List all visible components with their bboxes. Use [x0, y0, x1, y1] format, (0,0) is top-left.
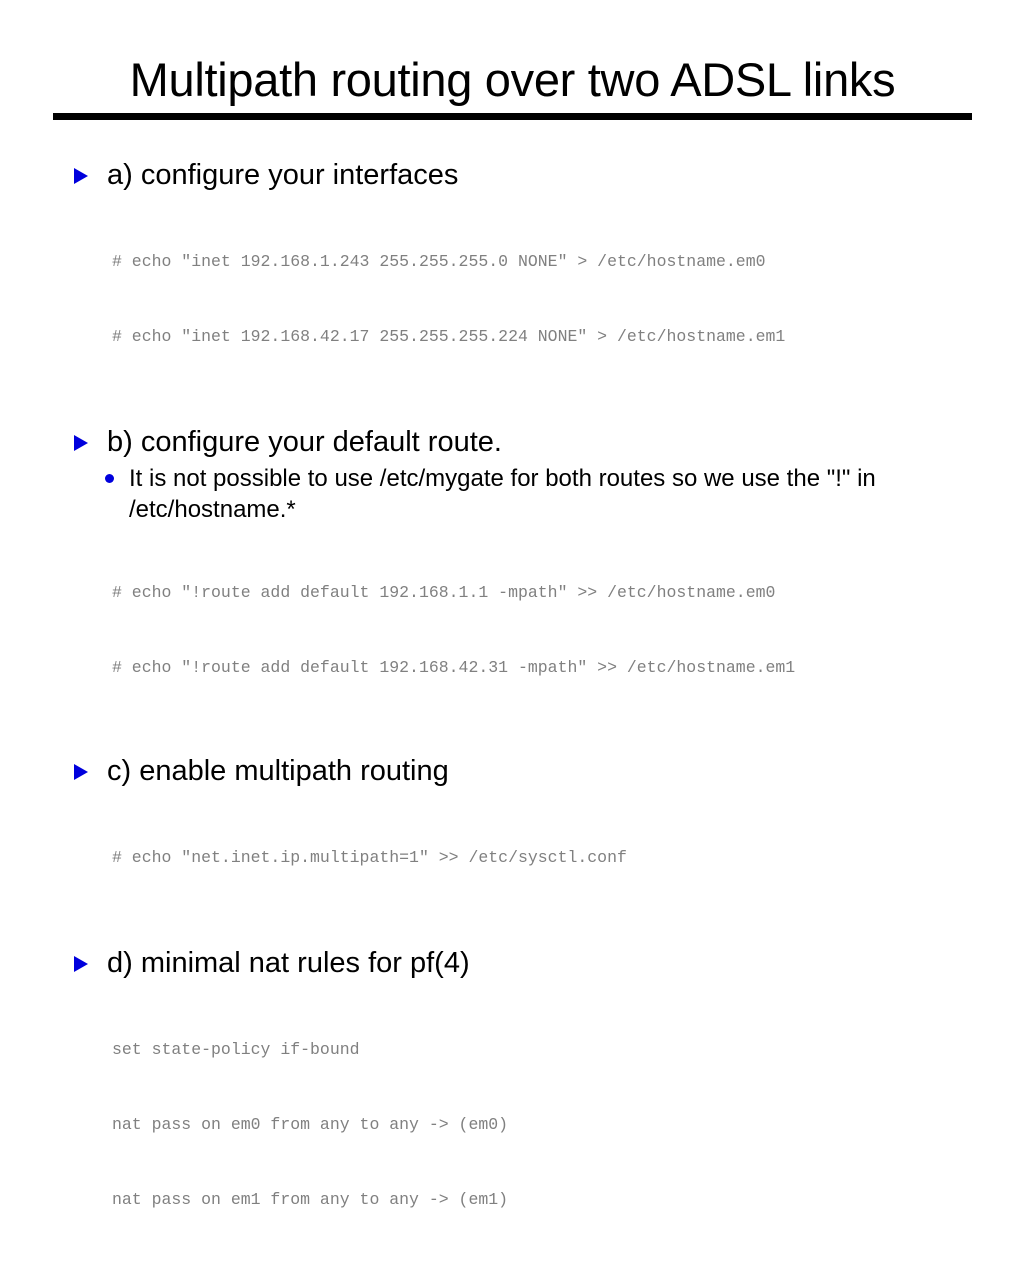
- section-spacer: [72, 920, 972, 944]
- triangle-right-icon: [74, 764, 88, 780]
- code-line: # echo "net.inet.ip.multipath=1" >> /etc…: [112, 845, 972, 870]
- triangle-right-icon: [74, 435, 88, 451]
- section-spacer: [72, 399, 972, 423]
- bullet-label-a: a) configure your interfaces: [107, 159, 458, 191]
- slide-title-block: Multipath routing over two ADSL links: [53, 52, 972, 120]
- dot-bullet-icon: [105, 474, 114, 483]
- code-block-d: set state-policy if-bound nat pass on em…: [72, 987, 972, 1262]
- bullet-item-b: b) configure your default route.: [72, 423, 972, 461]
- section-c: c) enable multipath routing # echo "net.…: [72, 752, 972, 920]
- bullet-label-c: c) enable multipath routing: [107, 755, 449, 787]
- section-b: b) configure your default route. It is n…: [72, 423, 972, 730]
- section-a: a) configure your interfaces # echo "ine…: [72, 156, 972, 399]
- code-line: nat pass on em1 from any to any -> (em1): [112, 1187, 972, 1212]
- code-block-c: # echo "net.inet.ip.multipath=1" >> /etc…: [72, 795, 972, 920]
- code-line: set state-policy if-bound: [112, 1037, 972, 1062]
- code-block-b: # echo "!route add default 192.168.1.1 -…: [72, 530, 972, 730]
- bullet-label-d: d) minimal nat rules for pf(4): [107, 947, 470, 979]
- bullet-item-d: d) minimal nat rules for pf(4): [72, 944, 972, 982]
- slide-canvas: Multipath routing over two ADSL links a)…: [0, 0, 1024, 768]
- code-line: # echo "inet 192.168.1.243 255.255.255.0…: [112, 249, 972, 274]
- code-line: # echo "!route add default 192.168.1.1 -…: [112, 580, 972, 605]
- code-line: nat pass on em0 from any to any -> (em0): [112, 1112, 972, 1137]
- section-d: d) minimal nat rules for pf(4) set state…: [72, 944, 972, 1262]
- page-title: Multipath routing over two ADSL links: [53, 52, 972, 108]
- code-block-a: # echo "inet 192.168.1.243 255.255.255.0…: [72, 199, 972, 399]
- triangle-right-icon: [74, 168, 88, 184]
- sub-bullet-item-b1: It is not possible to use /etc/mygate fo…: [72, 463, 972, 525]
- sub-bullet-label: It is not possible to use /etc/mygate fo…: [129, 465, 876, 523]
- bullet-item-a: a) configure your interfaces: [72, 156, 972, 194]
- title-underline-rule: [53, 113, 972, 120]
- section-spacer: [72, 730, 972, 752]
- bullet-label-b: b) configure your default route.: [107, 426, 502, 458]
- code-line: # echo "!route add default 192.168.42.31…: [112, 655, 972, 680]
- bullet-item-c: c) enable multipath routing: [72, 752, 972, 790]
- slide-body: a) configure your interfaces # echo "ine…: [72, 156, 972, 1262]
- code-line: # echo "inet 192.168.42.17 255.255.255.2…: [112, 324, 972, 349]
- triangle-right-icon: [74, 956, 88, 972]
